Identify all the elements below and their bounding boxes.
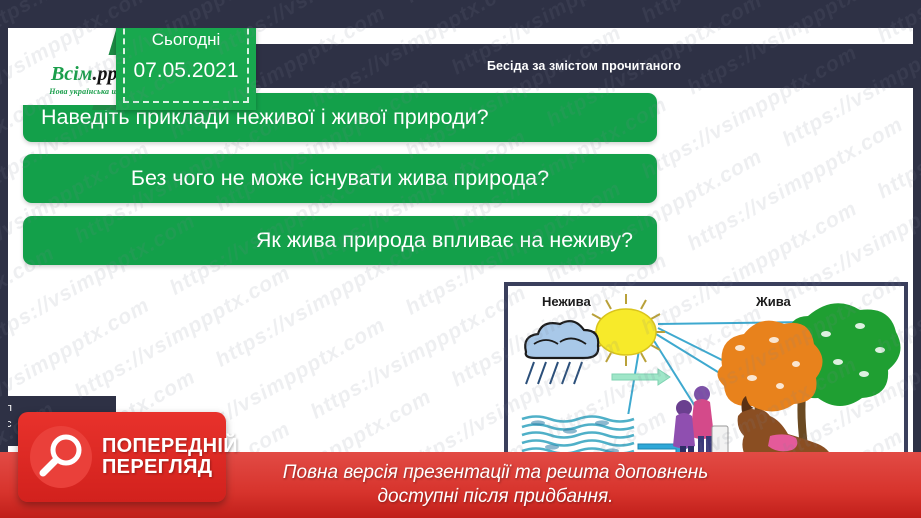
preview-line-2: ПЕРЕГЛЯД <box>102 457 238 478</box>
magnifier-icon <box>30 426 92 488</box>
arrow-icon <box>612 369 670 385</box>
preview-badge-label: ПОПЕРЕДНІЙ ПЕРЕГЛЯД <box>102 436 238 478</box>
label-living: Жива <box>756 294 791 309</box>
question-bar-3[interactable]: Як жива природа впливає на неживу? <box>23 216 657 265</box>
date-today-label: Сьогодні <box>152 30 221 50</box>
question-bar-2[interactable]: Без чого не може існувати жива природа? <box>23 154 657 203</box>
question-text-3: Як жива природа впливає на неживу? <box>23 228 657 253</box>
preview-line-1: ПОПЕРЕДНІЙ <box>102 436 238 457</box>
question-text-2: Без чого не може існувати жива природа? <box>23 166 657 191</box>
preview-badge[interactable]: ПОПЕРЕДНІЙ ПЕРЕГЛЯД <box>18 412 226 502</box>
date-badge: Сьогодні 07.05.2021 <box>116 28 256 110</box>
illustration-svg <box>508 286 904 473</box>
page-title: Бесіда за змістом прочитаного <box>487 59 681 73</box>
illustration-canvas <box>508 286 904 473</box>
rain-cloud-icon <box>525 321 598 384</box>
date-value: 07.05.2021 <box>133 59 238 83</box>
nature-illustration: Нежива Жива <box>504 282 908 477</box>
label-nonliving: Нежива <box>542 294 591 309</box>
header-bar: Бесіда за змістом прочитаного <box>255 44 913 88</box>
banner-line-2: доступні після придбання. <box>308 485 614 509</box>
watermark-text: https://vsimppptx.com https://vsimppptx.… <box>0 0 921 21</box>
banner-line-1: Повна версія презентації та решта доповн… <box>213 461 708 485</box>
logo-brand-prefix: Всім <box>51 63 92 85</box>
sun-icon <box>587 294 665 366</box>
